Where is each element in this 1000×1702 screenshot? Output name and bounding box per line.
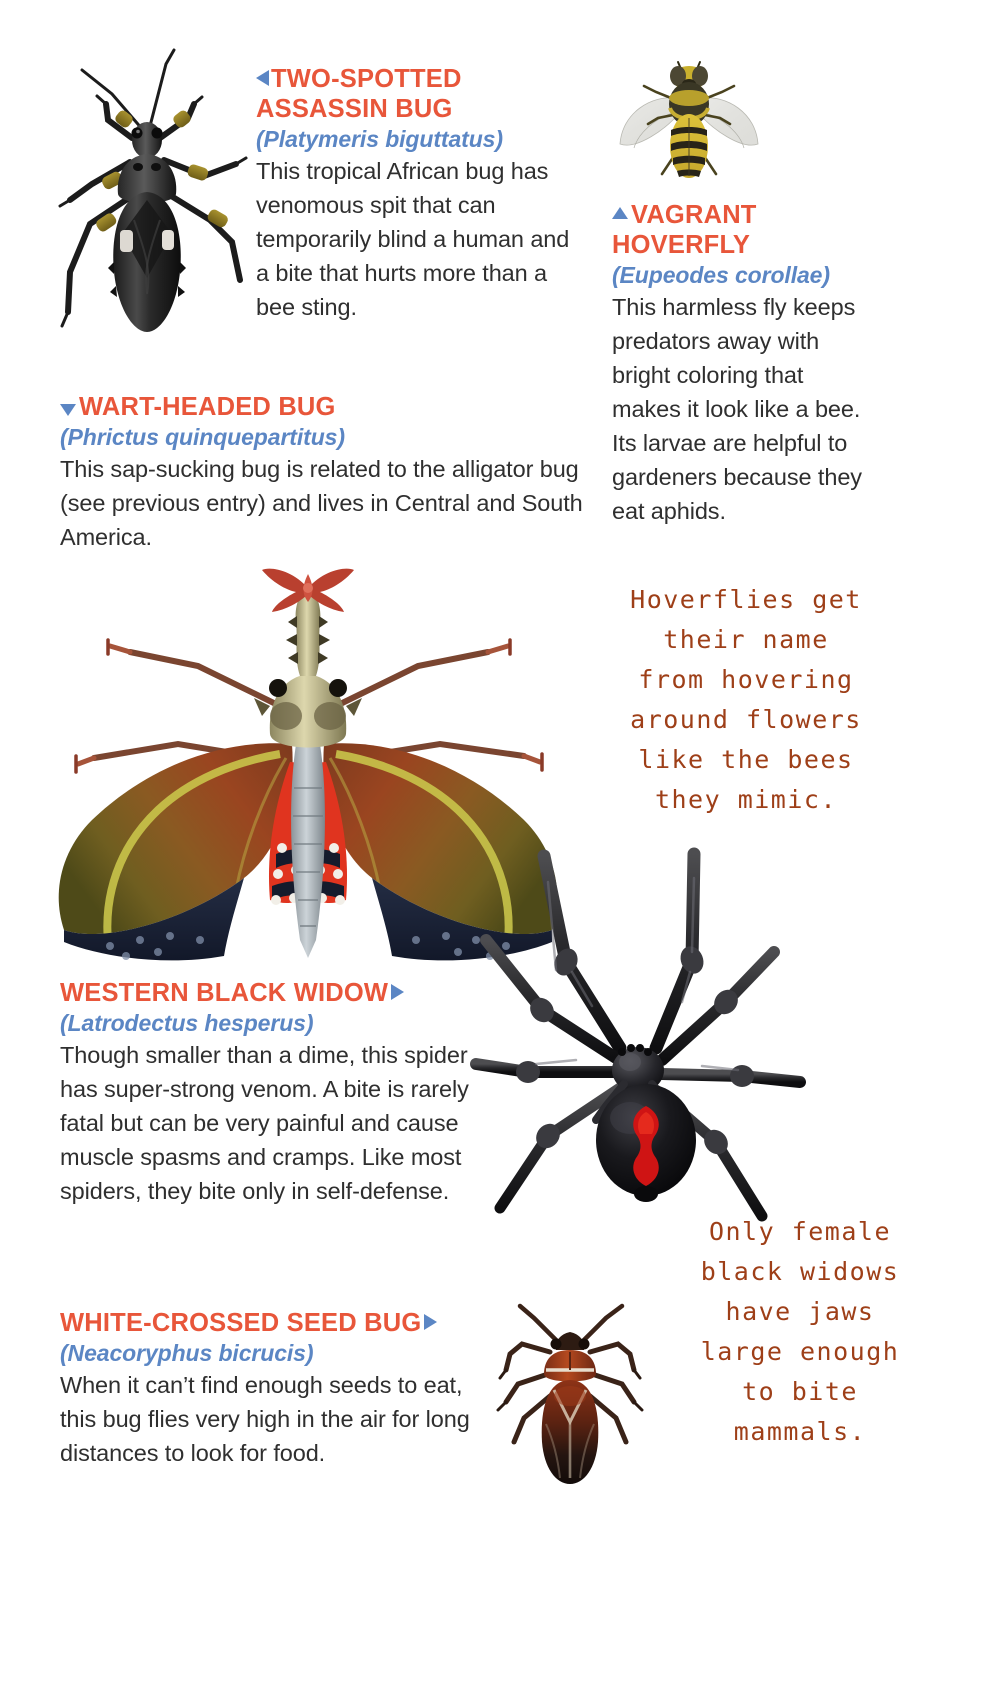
- description-text: This tropical African bug has venomous s…: [256, 154, 586, 324]
- scientific-name: (Phrictus quinquepartitus): [60, 422, 600, 452]
- common-name: WESTERN BLACK WIDOW: [60, 978, 490, 1008]
- entry-white-crossed-seed-bug: WHITE-CROSSED SEED BUG (Neacoryphus bicr…: [60, 1308, 480, 1470]
- fact-line: Hoverflies get: [606, 580, 886, 620]
- fact-line: to bite: [680, 1372, 920, 1412]
- fact-line: from hovering: [606, 660, 886, 700]
- fact-line: mammals.: [680, 1412, 920, 1452]
- arrow-down-icon: [60, 404, 76, 416]
- description-text: When it can’t find enough seeds to eat, …: [60, 1368, 480, 1470]
- fact-line: Only female: [680, 1212, 920, 1252]
- common-name: TWO-SPOTTED ASSASSIN BUG: [256, 64, 586, 124]
- black-widow-fact-note: Only female black widows have jaws large…: [680, 1212, 920, 1452]
- fact-line: they mimic.: [606, 780, 886, 820]
- fact-line: have jaws: [680, 1292, 920, 1332]
- seed-bug-illustration: [480, 1292, 660, 1492]
- hoverfly-fact-note: Hoverflies get their name from hovering …: [606, 580, 886, 820]
- field-guide-page: TWO-SPOTTED ASSASSIN BUG (Platymeris big…: [0, 0, 1000, 1702]
- scientific-name: (Eupeodes corollae): [612, 260, 862, 290]
- entry-two-spotted-assassin-bug: TWO-SPOTTED ASSASSIN BUG (Platymeris big…: [256, 64, 586, 324]
- entry-western-black-widow: WESTERN BLACK WIDOW (Latrodectus hesperu…: [60, 978, 490, 1208]
- description-text: This sap-sucking bug is related to the a…: [60, 452, 600, 554]
- fact-line: like the bees: [606, 740, 886, 780]
- scientific-name: (Neacoryphus bicrucis): [60, 1338, 480, 1368]
- fact-line: their name: [606, 620, 886, 660]
- fact-line: black widows: [680, 1252, 920, 1292]
- common-name: WHITE-CROSSED SEED BUG: [60, 1308, 480, 1338]
- fact-line: around flowers: [606, 700, 886, 740]
- description-text: Though smaller than a dime, this spider …: [60, 1038, 490, 1208]
- fact-line: large enough: [680, 1332, 920, 1372]
- arrow-up-icon: [612, 207, 628, 219]
- assassin-bug-illustration: [48, 34, 248, 334]
- hoverfly-illustration: [614, 52, 764, 182]
- arrow-right-icon: [391, 984, 404, 1000]
- description-text: This harmless fly keeps predators away w…: [612, 290, 862, 528]
- common-name: VAGRANT HOVERFLY: [612, 200, 862, 260]
- black-widow-illustration: [470, 820, 820, 1240]
- arrow-right-icon: [424, 1314, 437, 1330]
- entry-vagrant-hoverfly: VAGRANT HOVERFLY (Eupeodes corollae) Thi…: [612, 200, 862, 528]
- scientific-name: (Platymeris biguttatus): [256, 124, 586, 154]
- scientific-name: (Latrodectus hesperus): [60, 1008, 490, 1038]
- entry-wart-headed-bug: WART-HEADED BUG (Phrictus quinquepartitu…: [60, 392, 600, 554]
- common-name: WART-HEADED BUG: [60, 392, 600, 422]
- arrow-left-icon: [256, 70, 269, 86]
